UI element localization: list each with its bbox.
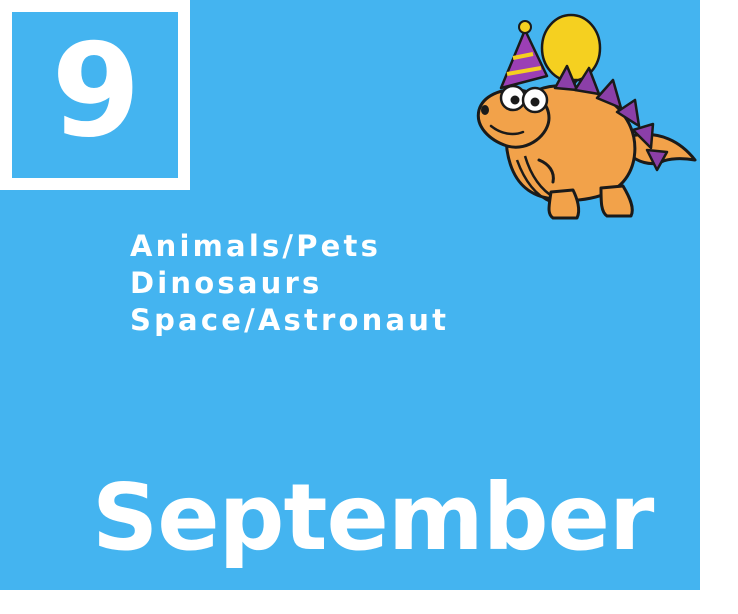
theme-list: Animals/Pets Dinosaurs Space/Astronaut — [130, 228, 650, 339]
month-number-square: 9 — [12, 12, 178, 178]
calendar-month-card: 9 — [0, 0, 738, 614]
theme-item-1: Animals/Pets — [130, 228, 650, 265]
month-number: 9 — [51, 28, 138, 156]
month-number-block: 9 — [0, 0, 190, 190]
party-hat-icon — [501, 21, 547, 88]
month-title: September — [92, 472, 653, 564]
dinosaur-illustration — [455, 10, 705, 225]
theme-item-3: Space/Astronaut — [130, 302, 650, 339]
theme-item-2: Dinosaurs — [130, 265, 650, 302]
